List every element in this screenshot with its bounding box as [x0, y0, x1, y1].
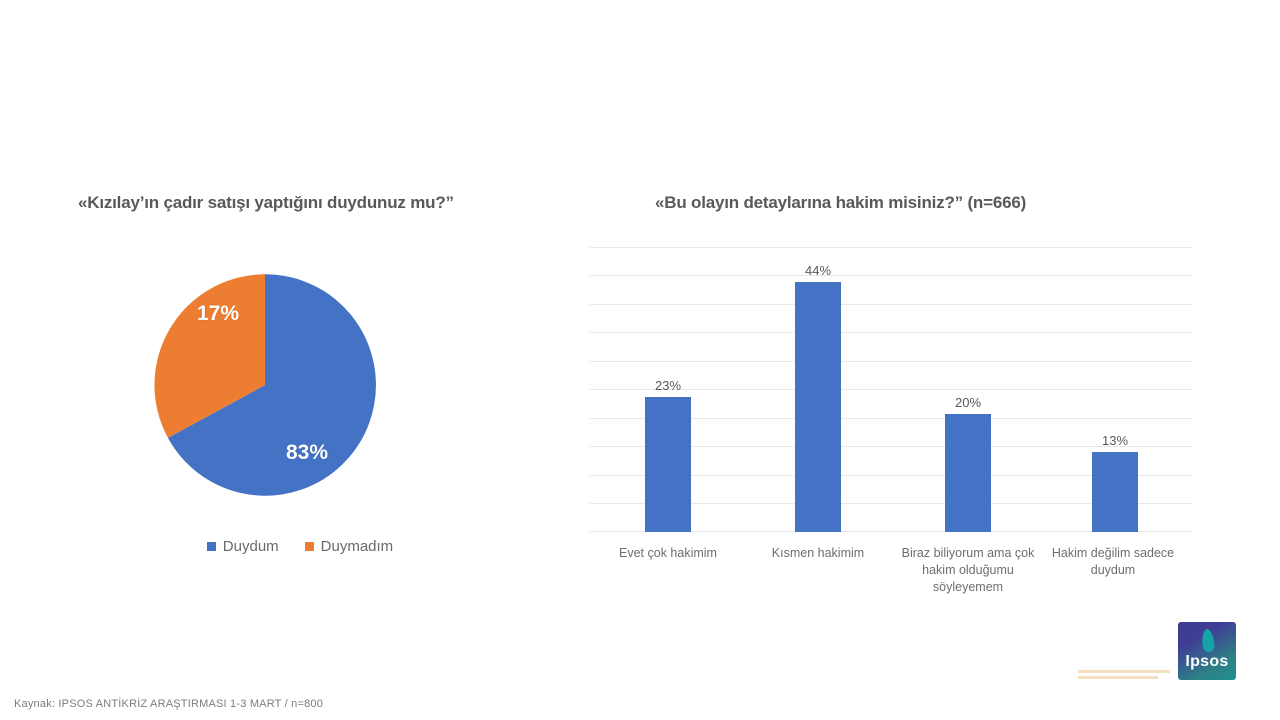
right-chart-title: «Bu olayın detaylarına hakim misiniz?” (… — [655, 193, 1026, 213]
legend-label-duydum: Duydum — [223, 538, 279, 555]
pie-legend: Duydum Duymadım — [145, 538, 455, 555]
bar-value-label-0: 23% — [638, 378, 698, 393]
bar-chart: 23% 44% 20% 13% Evet çok hakimim Kısmen … — [588, 240, 1198, 610]
legend-item-duydum[interactable]: Duydum — [207, 538, 279, 555]
ipsos-wordmark: Ipsos — [1178, 653, 1236, 671]
legend-swatch-icon-duydum — [207, 542, 216, 551]
gridline — [590, 275, 1192, 276]
ipsos-tagline-text — [1078, 670, 1170, 686]
legend-swatch-icon-duymadim — [305, 542, 314, 551]
pie-chart: 83% 17% Duydum Duymadım — [60, 245, 530, 575]
legend-label-duymadim: Duymadım — [321, 538, 394, 555]
gridline — [590, 332, 1192, 333]
left-chart-title: «Kızılay’ın çadır satışı yaptığını duydu… — [78, 193, 454, 213]
flame-icon — [1201, 628, 1216, 652]
x-axis-label-2: Biraz biliyorum ama çok hakim olduğumu s… — [901, 545, 1035, 596]
x-axis-label-3: Hakim değilim sadece duydum — [1046, 545, 1180, 579]
bar-value-label-1: 44% — [788, 263, 848, 278]
bar-biraz-biliyorum[interactable] — [945, 414, 991, 532]
gridline — [590, 361, 1192, 362]
bar-hakim-degilim[interactable] — [1092, 452, 1138, 532]
bar-evet-cok-hakimim[interactable] — [645, 397, 691, 532]
gridline — [590, 247, 1192, 248]
source-note: Kaynak: IPSOS ANTİKRİZ ARAŞTIRMASI 1-3 M… — [14, 698, 323, 710]
legend-item-duymadim[interactable]: Duymadım — [305, 538, 394, 555]
bar-value-label-2: 20% — [938, 395, 998, 410]
gridline — [590, 304, 1192, 305]
pie-value-label-duymadim: 17% — [197, 302, 239, 326]
bar-value-label-3: 13% — [1085, 433, 1145, 448]
pie-value-label-duydum: 83% — [286, 441, 328, 465]
bar-kismen-hakimim[interactable] — [795, 282, 841, 532]
x-axis-label-1: Kısmen hakimim — [753, 545, 883, 562]
x-axis-label-0: Evet çok hakimim — [603, 545, 733, 562]
pie-chart-svg — [152, 272, 378, 498]
ipsos-logo: Ipsos — [1178, 622, 1236, 680]
